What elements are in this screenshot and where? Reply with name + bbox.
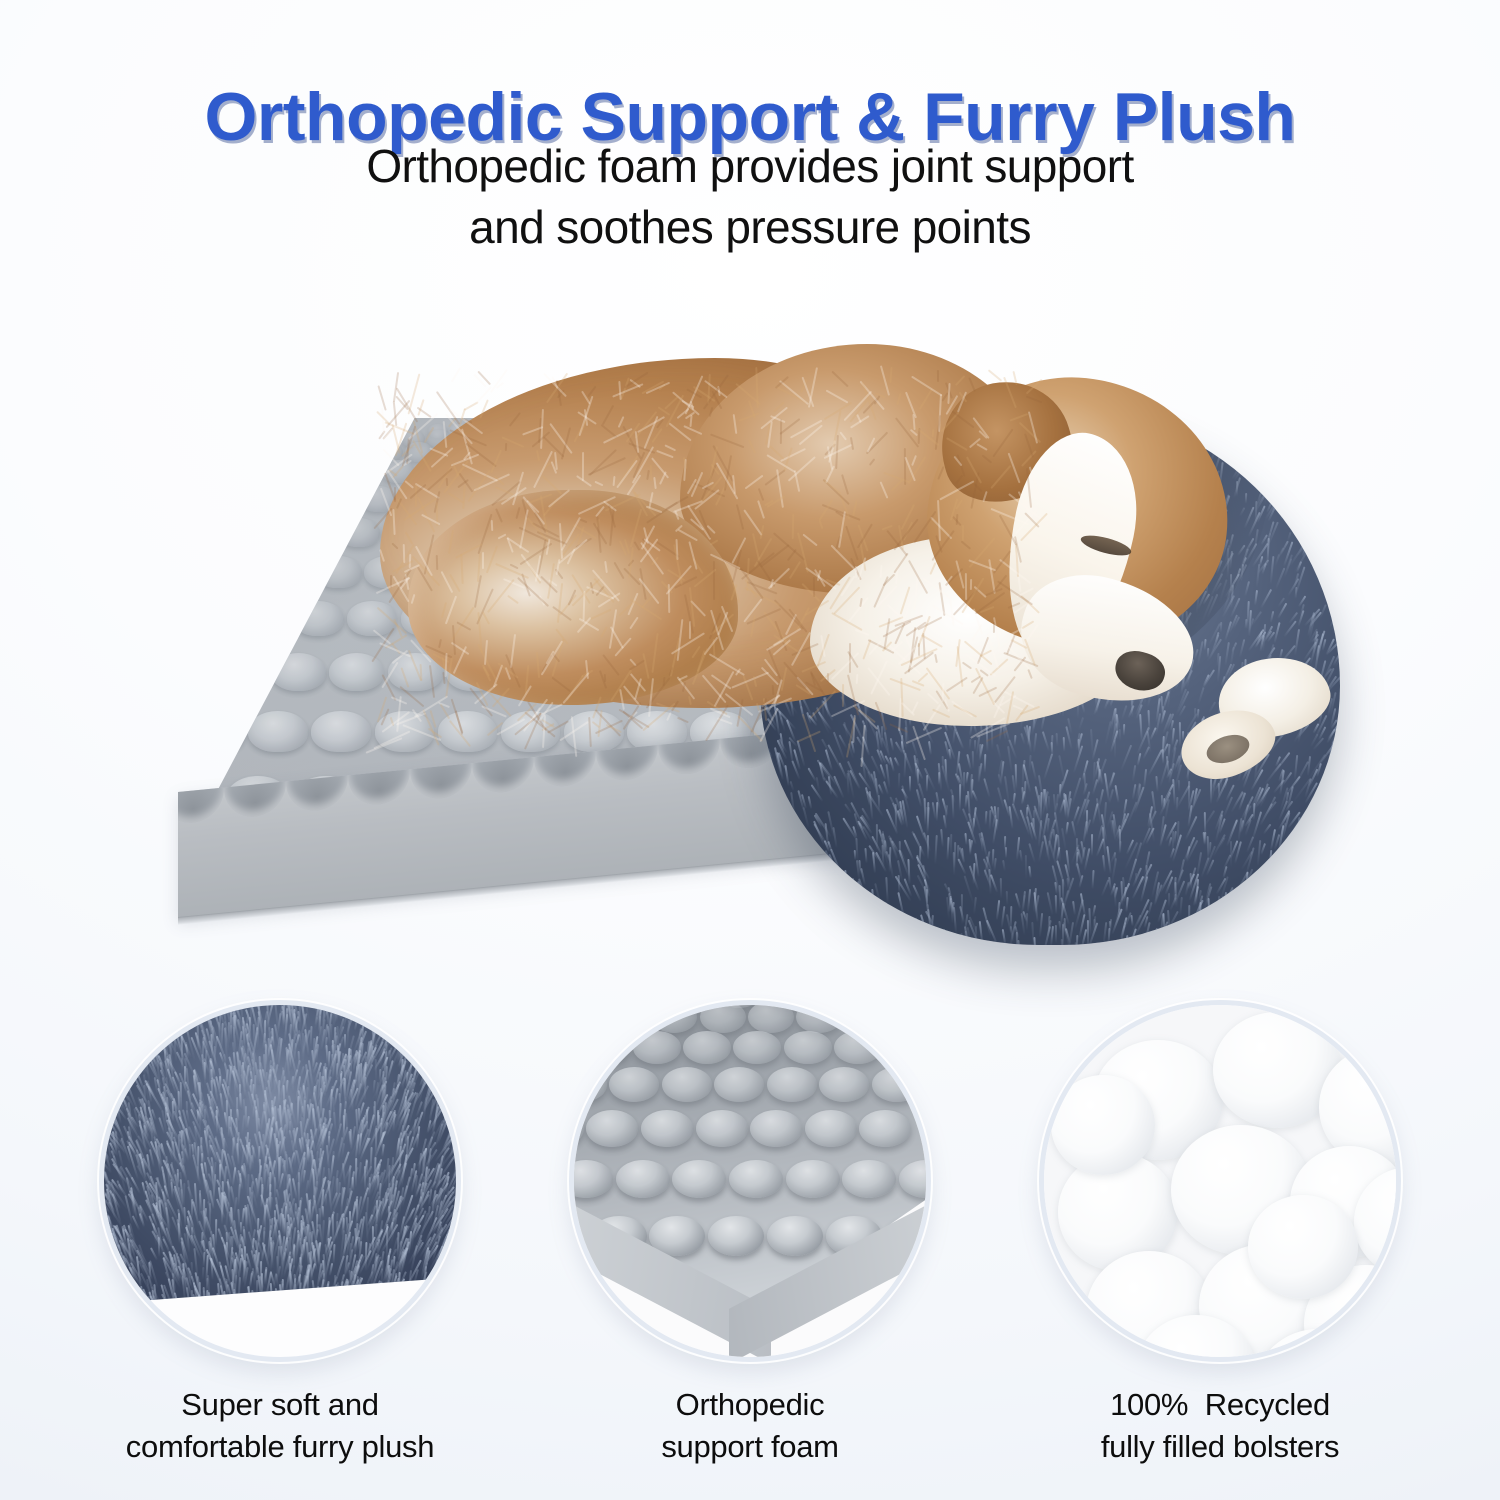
hero-product-image [0,300,1500,980]
feature-circle-support-foam [569,1000,931,1362]
sleeping-collie-dog [380,340,1140,760]
gray-egg-crate-foam-closeup [574,1005,926,1357]
feature-item-recycled-bolsters: 100% Recycled fully filled bolsters [1010,1000,1430,1468]
feature-circle-furry-plush [99,1000,461,1362]
feature-circle-recycled-bolsters [1039,1000,1401,1362]
feature-caption-support-foam: Orthopedic support foam [540,1384,960,1468]
caption-line-2: support foam [540,1426,960,1468]
caption-line-2: fully filled bolsters [1010,1426,1430,1468]
feature-item-furry-plush: Super soft and comfortable furry plush [70,1000,490,1468]
feature-caption-furry-plush: Super soft and comfortable furry plush [70,1384,490,1468]
feature-item-support-foam: Orthopedic support foam [540,1000,960,1468]
feature-caption-recycled-bolsters: 100% Recycled fully filled bolsters [1010,1384,1430,1468]
page-subtitle: Orthopedic foam provides joint support a… [0,136,1500,257]
caption-line-1: Orthopedic [540,1384,960,1426]
caption-line-2: comfortable furry plush [70,1426,490,1468]
subtitle-line-1: Orthopedic foam provides joint support [0,136,1500,197]
subtitle-line-2: and soothes pressure points [0,197,1500,258]
caption-line-1: 100% Recycled [1010,1384,1430,1426]
navy-plush-fabric-closeup [104,1005,456,1357]
product-feature-graphic: Orthopedic Support & Furry Plush Orthope… [0,0,1500,1500]
feature-highlights: Super soft and comfortable furry plush O… [0,1000,1500,1500]
caption-line-1: Super soft and [70,1384,490,1426]
white-fiberfill-closeup [1044,1005,1396,1357]
